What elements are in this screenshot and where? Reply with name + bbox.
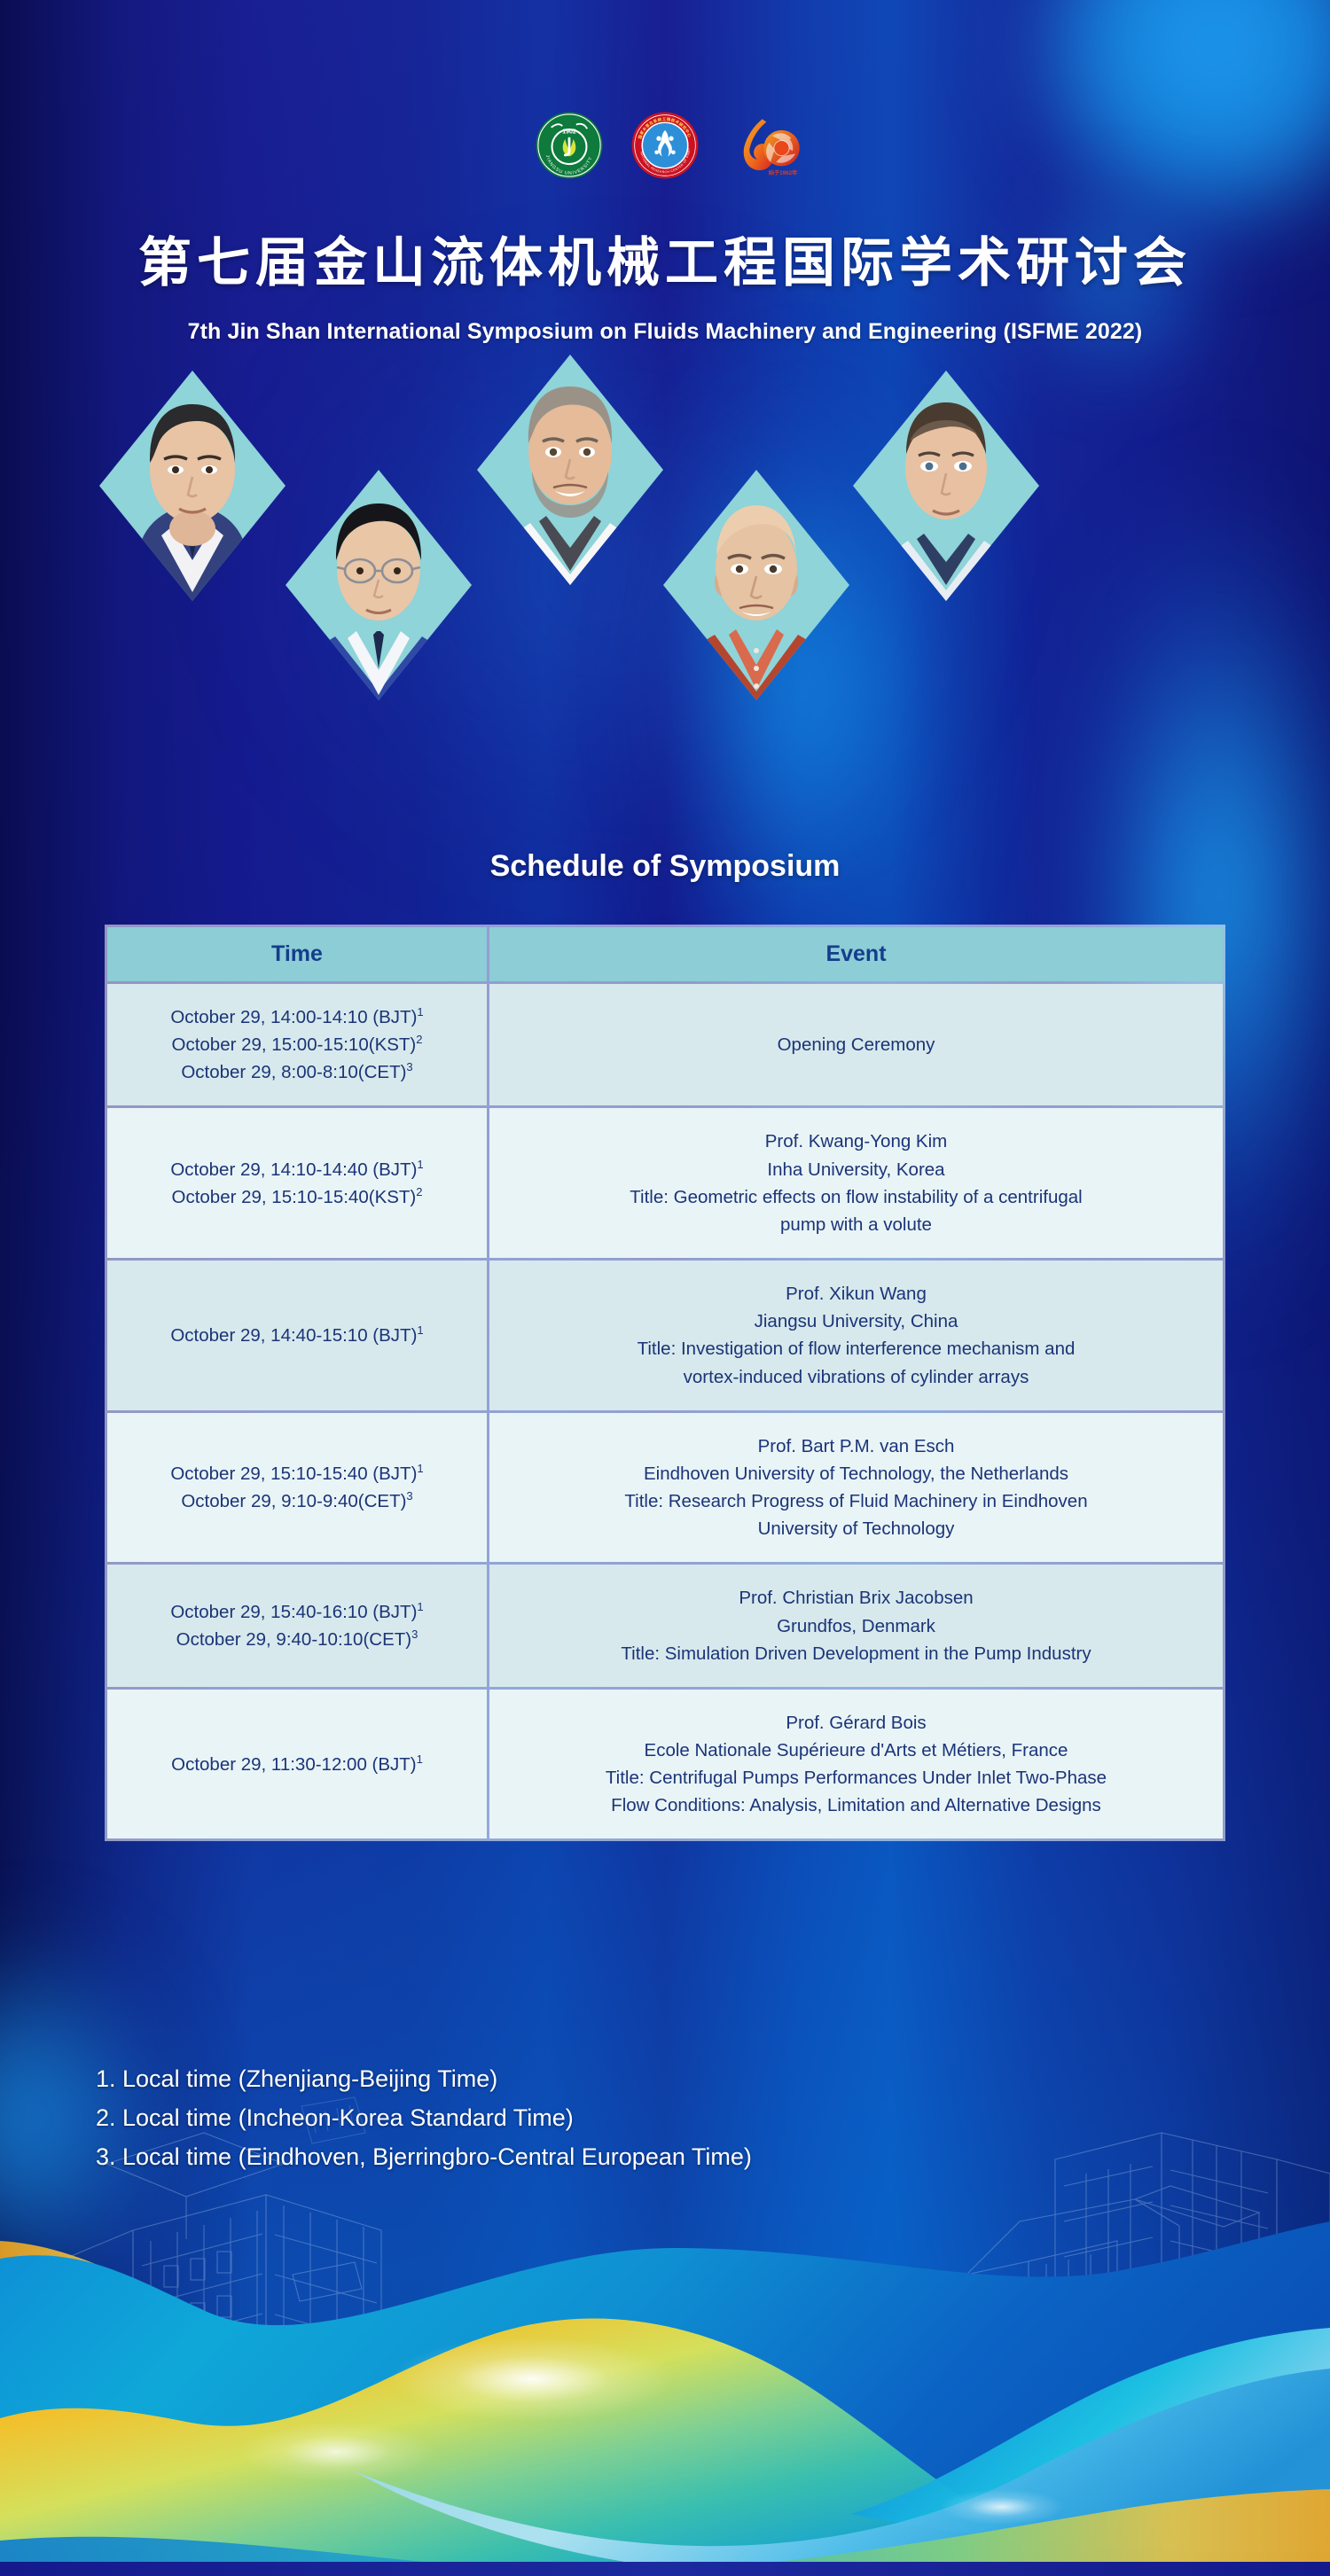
table-row: October 29, 14:10-14:40 (BJT)1October 29… xyxy=(107,1108,1223,1258)
footnote-marker: 1 xyxy=(417,1158,423,1171)
cell-time: October 29, 15:40-16:10 (BJT)1October 29… xyxy=(107,1565,487,1686)
speaker-portrait-2 xyxy=(477,355,663,585)
time-line: October 29, 15:40-16:10 (BJT)1 xyxy=(120,1598,474,1626)
footnote-item: 2. Local time (Incheon-Korea Standard Ti… xyxy=(96,2101,1071,2136)
schedule-heading: Schedule of Symposium xyxy=(0,849,1330,884)
cell-time: October 29, 14:00-14:10 (BJT)1October 29… xyxy=(107,984,487,1105)
event-line: Prof. Xikun Wang xyxy=(502,1280,1210,1308)
footnote-marker: 1 xyxy=(417,1005,423,1019)
time-line: October 29, 8:00-8:10(CET)3 xyxy=(120,1058,474,1086)
schedule-table: Time Event October 29, 14:00-14:10 (BJT)… xyxy=(105,925,1225,1841)
logo-row: 1902 JIANGSU UNIVERSITY xyxy=(0,110,1330,181)
event-line: Prof. Bart P.M. van Esch xyxy=(502,1432,1210,1460)
footnote-marker: 3 xyxy=(411,1628,418,1641)
national-research-center-of-pumps-logo: 国家水泵及系统工程技术研究中心 NATIONAL RESEARCH CENTER… xyxy=(630,111,700,180)
event-line: vortex-induced vibrations of cylinder ar… xyxy=(502,1363,1210,1391)
time-line: October 29, 15:10-15:40(KST)2 xyxy=(120,1183,474,1211)
speaker-portrait-1 xyxy=(99,371,286,601)
event-line: Inha University, Korea xyxy=(502,1156,1210,1183)
event-line: Title: Investigation of flow interferenc… xyxy=(502,1335,1210,1362)
footnote-item: 3. Local time (Eindhoven, Bjerringbro-Ce… xyxy=(96,2140,1071,2175)
sixtieth-anniversary-logo: 始于1962年 xyxy=(726,111,795,180)
footnote-marker: 2 xyxy=(416,1033,422,1046)
speaker-portrait-4 xyxy=(286,470,472,700)
event-line: Prof. Kwang-Yong Kim xyxy=(502,1128,1210,1155)
footnote-marker: 1 xyxy=(417,1752,423,1766)
table-row: October 29, 15:40-16:10 (BJT)1October 29… xyxy=(107,1565,1223,1686)
cell-event: Prof. Bart P.M. van EschEindhoven Univer… xyxy=(489,1413,1223,1563)
schedule-table-wrapper: Time Event October 29, 14:00-14:10 (BJT)… xyxy=(105,925,1225,1841)
svg-text:1902: 1902 xyxy=(562,129,576,136)
event-line: Opening Ceremony xyxy=(502,1031,1210,1058)
event-line: Prof. Gérard Bois xyxy=(502,1709,1210,1737)
footnote-marker: 1 xyxy=(417,1600,423,1613)
footnote-marker: 3 xyxy=(406,1489,412,1503)
poster-title-chinese: 第七届金山流体机械工程国际学术研讨会 xyxy=(0,220,1330,297)
cell-event: Prof. Gérard BoisEcole Nationale Supérie… xyxy=(489,1690,1223,1839)
event-line: Ecole Nationale Supérieure d'Arts et Mét… xyxy=(502,1737,1210,1764)
time-line: October 29, 14:00-14:10 (BJT)1 xyxy=(120,1003,474,1031)
time-line: October 29, 11:30-12:00 (BJT)1 xyxy=(120,1751,474,1778)
table-row: October 29, 15:10-15:40 (BJT)1October 29… xyxy=(107,1413,1223,1563)
footnote-marker: 3 xyxy=(406,1060,412,1073)
speaker-portrait-3 xyxy=(853,371,1039,601)
column-header-time: Time xyxy=(107,927,487,981)
footnote-list: 1. Local time (Zhenjiang-Beijing Time) 2… xyxy=(96,2062,1071,2179)
time-line: October 29, 15:10-15:40 (BJT)1 xyxy=(120,1460,474,1487)
time-line: October 29, 14:10-14:40 (BJT)1 xyxy=(120,1156,474,1183)
event-line: Jiangsu University, China xyxy=(502,1308,1210,1335)
footnote-item: 1. Local time (Zhenjiang-Beijing Time) xyxy=(96,2062,1071,2097)
event-line: pump with a volute xyxy=(502,1211,1210,1238)
table-row: October 29, 14:00-14:10 (BJT)1October 29… xyxy=(107,984,1223,1105)
cell-time: October 29, 15:10-15:40 (BJT)1October 29… xyxy=(107,1413,487,1563)
event-line: Title: Centrifugal Pumps Performances Un… xyxy=(502,1764,1210,1791)
event-line: Flow Conditions: Analysis, Limitation an… xyxy=(502,1791,1210,1819)
cell-time: October 29, 14:40-15:10 (BJT)1 xyxy=(107,1261,487,1410)
event-line: Title: Geometric effects on flow instabi… xyxy=(502,1183,1210,1211)
table-row: October 29, 11:30-12:00 (BJT)1Prof. Géra… xyxy=(107,1690,1223,1839)
cell-time: October 29, 14:10-14:40 (BJT)1October 29… xyxy=(107,1108,487,1258)
jiangsu-university-logo: 1902 JIANGSU UNIVERSITY xyxy=(535,111,604,180)
cell-time: October 29, 11:30-12:00 (BJT)1 xyxy=(107,1690,487,1839)
event-line: Title: Research Progress of Fluid Machin… xyxy=(502,1487,1210,1515)
time-line: October 29, 14:40-15:10 (BJT)1 xyxy=(120,1322,474,1349)
event-line: University of Technology xyxy=(502,1515,1210,1542)
speaker-portrait-group xyxy=(0,371,1330,814)
column-header-event: Event xyxy=(489,927,1223,981)
footnote-marker: 1 xyxy=(417,1323,423,1337)
svg-text:始于1962年: 始于1962年 xyxy=(768,169,798,176)
footnote-marker: 1 xyxy=(417,1462,423,1475)
cell-event: Prof. Christian Brix JacobsenGrundfos, D… xyxy=(489,1565,1223,1686)
event-line: Title: Simulation Driven Development in … xyxy=(502,1640,1210,1667)
cell-event: Prof. Kwang-Yong KimInha University, Kor… xyxy=(489,1108,1223,1258)
speaker-portrait-5 xyxy=(663,470,849,700)
time-line: October 29, 9:10-9:40(CET)3 xyxy=(120,1487,474,1515)
time-line: October 29, 15:00-15:10(KST)2 xyxy=(120,1031,474,1058)
cell-event: Opening Ceremony xyxy=(489,984,1223,1105)
time-line: October 29, 9:40-10:10(CET)3 xyxy=(120,1626,474,1653)
table-header-row: Time Event xyxy=(107,927,1223,981)
event-line: Prof. Christian Brix Jacobsen xyxy=(502,1584,1210,1612)
event-line: Eindhoven University of Technology, the … xyxy=(502,1460,1210,1487)
event-line: Grundfos, Denmark xyxy=(502,1612,1210,1640)
table-row: October 29, 14:40-15:10 (BJT)1Prof. Xiku… xyxy=(107,1261,1223,1410)
footnote-marker: 2 xyxy=(416,1185,422,1198)
cell-event: Prof. Xikun WangJiangsu University, Chin… xyxy=(489,1261,1223,1410)
poster-title-english: 7th Jin Shan International Symposium on … xyxy=(0,319,1330,345)
